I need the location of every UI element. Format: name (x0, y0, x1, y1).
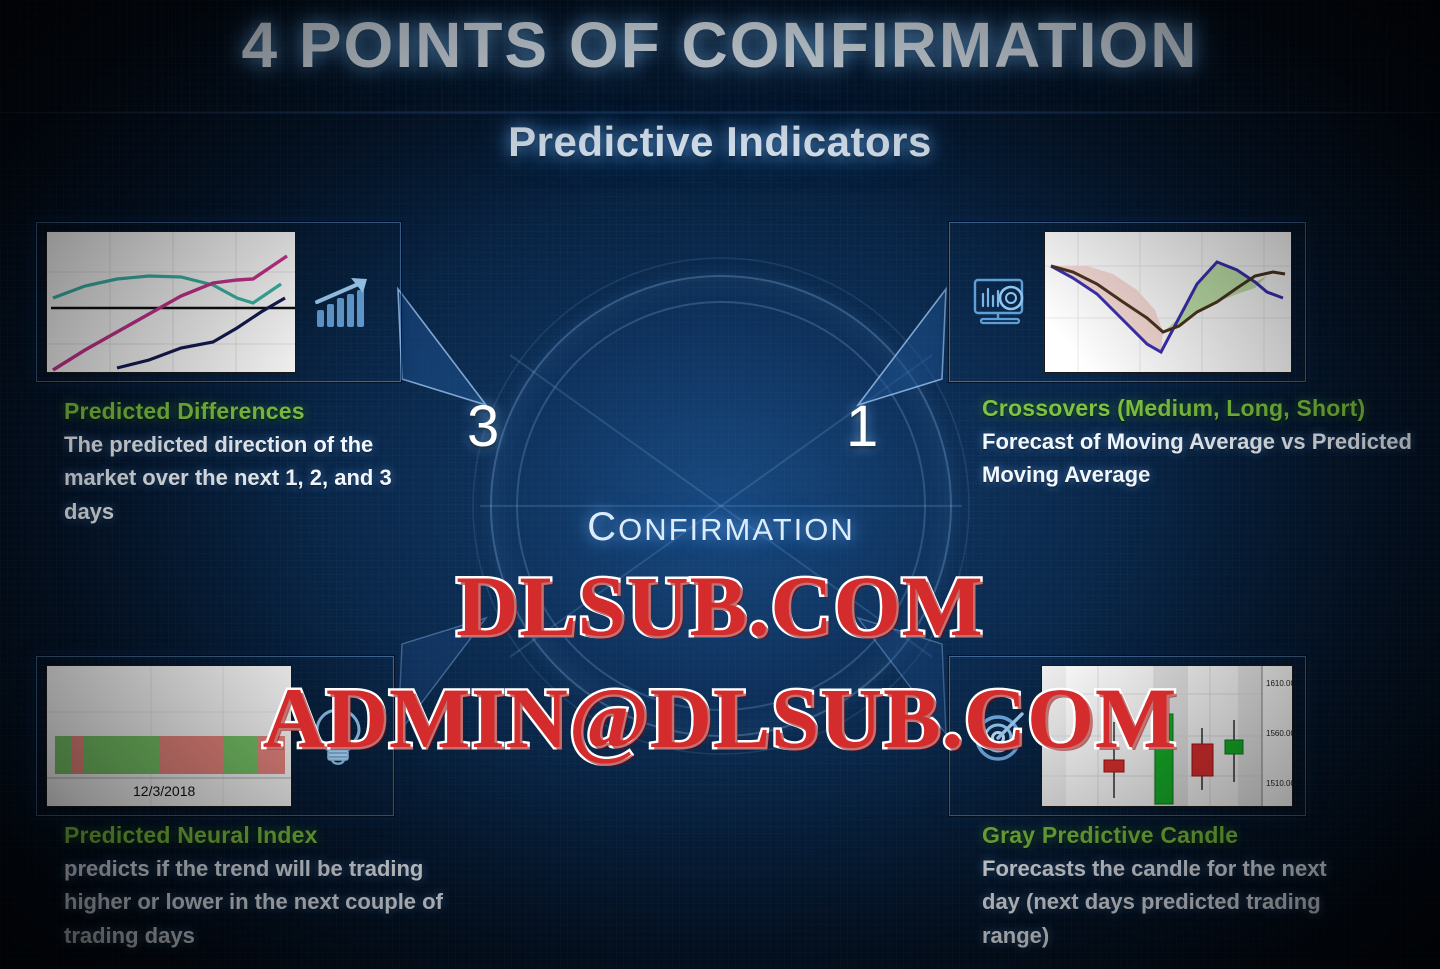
bar-chart-arrow-icon (296, 231, 391, 373)
watermark-email: ADMIN@DLSUB.COM (0, 668, 1440, 768)
step-number-1: 1 (846, 393, 878, 460)
chart-predicted-differences (46, 231, 296, 373)
center-label-cap: C (587, 505, 618, 549)
monitor-analytics-icon (959, 231, 1044, 373)
caption-title: Gray Predictive Candle (982, 822, 1342, 849)
page-title: 4 POINTS OF CONFIRMATION (0, 8, 1440, 82)
caption-gray-predictive-candle: Gray Predictive Candle Forecasts the can… (982, 822, 1342, 952)
caption-title: Predicted Neural Index (64, 822, 444, 849)
caption-predicted-neural-index: Predicted Neural Index predicts if the t… (64, 822, 444, 952)
caption-body: predicts if the trend will be trading hi… (64, 852, 444, 952)
watermark-site: DLSUB.COM (0, 556, 1440, 656)
crossovers-svg (1045, 232, 1292, 373)
page-subtitle: Predictive Indicators (0, 118, 1440, 166)
caption-body: Forecasts the candle for the next day (n… (982, 852, 1342, 952)
caption-title: Crossovers (Medium, Long, Short) (982, 395, 1432, 422)
predicted-differences-svg (47, 232, 296, 373)
candle-ytick-3: 1510.00 (1266, 779, 1293, 788)
caption-title: Predicted Differences (64, 398, 424, 425)
panel-predicted-differences[interactable] (36, 222, 401, 382)
center-label-rest: ONFIRMATION (618, 512, 855, 547)
step-number-3: 3 (467, 393, 499, 460)
caption-crossovers: Crossovers (Medium, Long, Short) Forecas… (982, 395, 1432, 492)
panel-crossovers[interactable] (949, 222, 1306, 382)
chart-crossovers (1044, 231, 1292, 373)
center-label: CONFIRMATION (490, 505, 952, 550)
caption-body: The predicted direction of the market ov… (64, 428, 424, 528)
caption-predicted-differences: Predicted Differences The predicted dire… (64, 398, 424, 528)
neural-index-date-label: 12/3/2018 (133, 783, 195, 799)
caption-body: Forecast of Moving Average vs Predicted … (982, 425, 1432, 492)
